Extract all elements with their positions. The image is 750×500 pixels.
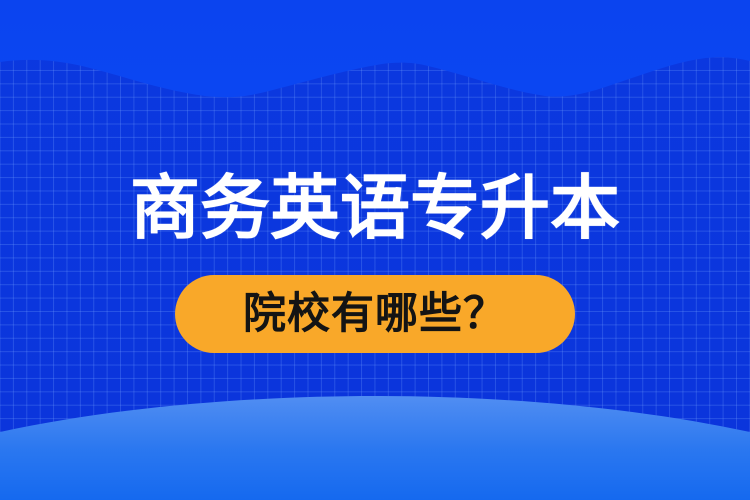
banner-headline: 商务英语专升本 (0, 168, 750, 248)
banner-content: 商务英语专升本 院校有哪些？ (0, 0, 750, 500)
cta-button[interactable]: 院校有哪些？ (175, 275, 575, 353)
promo-banner: 商务英语专升本 院校有哪些？ (0, 0, 750, 500)
